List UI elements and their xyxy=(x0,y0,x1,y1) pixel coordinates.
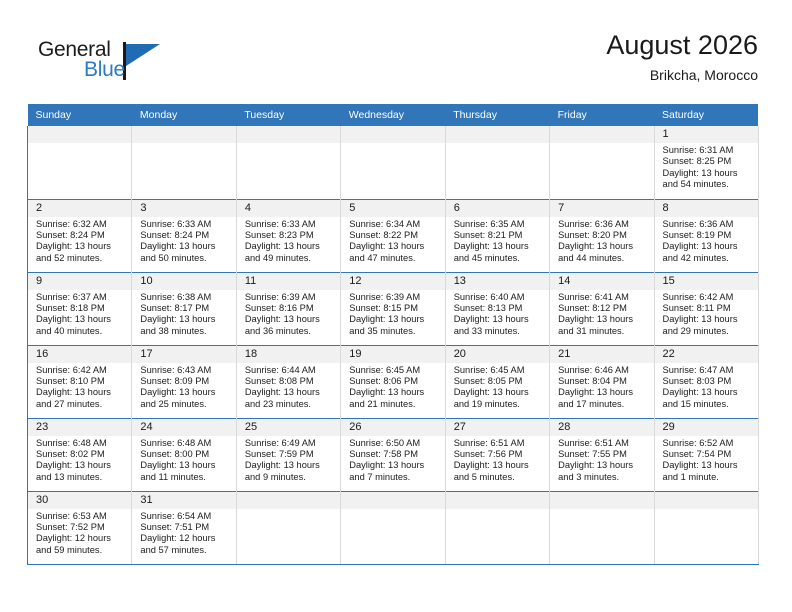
sunset-text: Sunset: 7:58 PM xyxy=(349,449,438,460)
day-number: 21 xyxy=(550,346,653,363)
day-details: Sunrise: 6:48 AMSunset: 8:00 PMDaylight:… xyxy=(132,436,235,484)
day-number: 9 xyxy=(28,273,131,290)
sunset-text: Sunset: 8:04 PM xyxy=(558,376,647,387)
day-number: 24 xyxy=(132,419,235,436)
daylight-text-line1: Daylight: 13 hours xyxy=(140,387,229,398)
calendar-day-cell[interactable]: 31Sunrise: 6:54 AMSunset: 7:51 PMDayligh… xyxy=(132,491,236,564)
day-number xyxy=(550,126,653,143)
day-details: Sunrise: 6:33 AMSunset: 8:23 PMDaylight:… xyxy=(237,217,340,265)
calendar-day-cell[interactable]: 13Sunrise: 6:40 AMSunset: 8:13 PMDayligh… xyxy=(445,272,549,345)
sunrise-text: Sunrise: 6:40 AM xyxy=(454,292,543,303)
day-details: Sunrise: 6:51 AMSunset: 7:56 PMDaylight:… xyxy=(446,436,549,484)
sunrise-text: Sunrise: 6:44 AM xyxy=(245,365,334,376)
sunrise-text: Sunrise: 6:41 AM xyxy=(558,292,647,303)
daylight-text-line1: Daylight: 13 hours xyxy=(245,460,334,471)
weekday-header-thursday: Thursday xyxy=(445,104,549,126)
daylight-text-line2: and 38 minutes. xyxy=(140,326,229,337)
calendar-cell-empty xyxy=(445,491,549,564)
daylight-text-line2: and 29 minutes. xyxy=(663,326,752,337)
day-details: Sunrise: 6:45 AMSunset: 8:06 PMDaylight:… xyxy=(341,363,444,411)
day-details xyxy=(237,143,340,195)
daylight-text-line1: Daylight: 13 hours xyxy=(140,460,229,471)
sunset-text: Sunset: 8:05 PM xyxy=(454,376,543,387)
daylight-text-line2: and 52 minutes. xyxy=(36,253,125,264)
day-number: 3 xyxy=(132,200,235,217)
calendar-cell-empty xyxy=(550,126,654,199)
day-details: Sunrise: 6:46 AMSunset: 8:04 PMDaylight:… xyxy=(550,363,653,411)
sunset-text: Sunset: 8:15 PM xyxy=(349,303,438,314)
daylight-text-line2: and 25 minutes. xyxy=(140,399,229,410)
calendar-day-cell[interactable]: 26Sunrise: 6:50 AMSunset: 7:58 PMDayligh… xyxy=(341,418,445,491)
daylight-text-line2: and 35 minutes. xyxy=(349,326,438,337)
day-number: 1 xyxy=(655,126,758,143)
sunset-text: Sunset: 8:00 PM xyxy=(140,449,229,460)
calendar-day-cell[interactable]: 9Sunrise: 6:37 AMSunset: 8:18 PMDaylight… xyxy=(28,272,132,345)
day-number: 31 xyxy=(132,492,235,509)
daylight-text-line1: Daylight: 13 hours xyxy=(36,460,125,471)
daylight-text-line2: and 47 minutes. xyxy=(349,253,438,264)
weekday-header-monday: Monday xyxy=(132,104,236,126)
sunset-text: Sunset: 7:56 PM xyxy=(454,449,543,460)
day-number: 16 xyxy=(28,346,131,363)
sunrise-text: Sunrise: 6:39 AM xyxy=(245,292,334,303)
sunset-text: Sunset: 8:02 PM xyxy=(36,449,125,460)
day-number: 8 xyxy=(655,200,758,217)
day-number: 15 xyxy=(655,273,758,290)
sunrise-text: Sunrise: 6:51 AM xyxy=(558,438,647,449)
day-details xyxy=(446,509,549,561)
sunrise-text: Sunrise: 6:42 AM xyxy=(36,365,125,376)
day-details: Sunrise: 6:53 AMSunset: 7:52 PMDaylight:… xyxy=(28,509,131,557)
day-details: Sunrise: 6:32 AMSunset: 8:24 PMDaylight:… xyxy=(28,217,131,265)
day-number: 25 xyxy=(237,419,340,436)
day-details: Sunrise: 6:47 AMSunset: 8:03 PMDaylight:… xyxy=(655,363,758,411)
sunrise-text: Sunrise: 6:45 AM xyxy=(454,365,543,376)
day-number xyxy=(28,126,131,143)
calendar-day-cell[interactable]: 17Sunrise: 6:43 AMSunset: 8:09 PMDayligh… xyxy=(132,345,236,418)
calendar-week-row: 2Sunrise: 6:32 AMSunset: 8:24 PMDaylight… xyxy=(28,199,759,272)
page-subtitle: Brikcha, Morocco xyxy=(606,65,758,85)
calendar-day-cell[interactable]: 1Sunrise: 6:31 AMSunset: 8:25 PMDaylight… xyxy=(654,126,758,199)
weekday-header-friday: Friday xyxy=(550,104,654,126)
daylight-text-line2: and 3 minutes. xyxy=(558,472,647,483)
calendar-day-cell[interactable]: 25Sunrise: 6:49 AMSunset: 7:59 PMDayligh… xyxy=(236,418,340,491)
sunrise-text: Sunrise: 6:33 AM xyxy=(140,219,229,230)
calendar-day-cell[interactable]: 12Sunrise: 6:39 AMSunset: 8:15 PMDayligh… xyxy=(341,272,445,345)
calendar-day-cell[interactable]: 15Sunrise: 6:42 AMSunset: 8:11 PMDayligh… xyxy=(654,272,758,345)
day-number: 19 xyxy=(341,346,444,363)
calendar-day-cell[interactable]: 16Sunrise: 6:42 AMSunset: 8:10 PMDayligh… xyxy=(28,345,132,418)
calendar-cell-empty xyxy=(132,126,236,199)
day-number: 20 xyxy=(446,346,549,363)
daylight-text-line1: Daylight: 13 hours xyxy=(140,241,229,252)
day-details: Sunrise: 6:48 AMSunset: 8:02 PMDaylight:… xyxy=(28,436,131,484)
daylight-text-line1: Daylight: 13 hours xyxy=(454,460,543,471)
daylight-text-line1: Daylight: 13 hours xyxy=(36,314,125,325)
daylight-text-line2: and 57 minutes. xyxy=(140,545,229,556)
sunrise-text: Sunrise: 6:31 AM xyxy=(663,145,752,156)
day-number: 4 xyxy=(237,200,340,217)
sunset-text: Sunset: 8:08 PM xyxy=(245,376,334,387)
sunrise-text: Sunrise: 6:46 AM xyxy=(558,365,647,376)
sunrise-text: Sunrise: 6:33 AM xyxy=(245,219,334,230)
daylight-text-line2: and 27 minutes. xyxy=(36,399,125,410)
sunrise-text: Sunrise: 6:54 AM xyxy=(140,511,229,522)
daylight-text-line1: Daylight: 13 hours xyxy=(663,460,752,471)
daylight-text-line2: and 9 minutes. xyxy=(245,472,334,483)
day-number: 7 xyxy=(550,200,653,217)
day-details: Sunrise: 6:42 AMSunset: 8:10 PMDaylight:… xyxy=(28,363,131,411)
daylight-text-line2: and 59 minutes. xyxy=(36,545,125,556)
daylight-text-line2: and 42 minutes. xyxy=(663,253,752,264)
sunrise-text: Sunrise: 6:45 AM xyxy=(349,365,438,376)
general-blue-logo[interactable]: General Blue xyxy=(38,38,188,86)
day-details: Sunrise: 6:36 AMSunset: 8:19 PMDaylight:… xyxy=(655,217,758,265)
calendar-day-cell[interactable]: 6Sunrise: 6:35 AMSunset: 8:21 PMDaylight… xyxy=(445,199,549,272)
daylight-text-line2: and 33 minutes. xyxy=(454,326,543,337)
weekday-header-wednesday: Wednesday xyxy=(341,104,445,126)
sunrise-text: Sunrise: 6:38 AM xyxy=(140,292,229,303)
sunrise-text: Sunrise: 6:36 AM xyxy=(558,219,647,230)
daylight-text-line1: Daylight: 13 hours xyxy=(558,387,647,398)
sunrise-text: Sunrise: 6:53 AM xyxy=(36,511,125,522)
page-header: General Blue August 2026 Brikcha, Morocc… xyxy=(0,0,792,104)
weekday-header-row: Sunday Monday Tuesday Wednesday Thursday… xyxy=(28,104,759,126)
daylight-text-line1: Daylight: 13 hours xyxy=(663,168,752,179)
sunrise-text: Sunrise: 6:36 AM xyxy=(663,219,752,230)
sunset-text: Sunset: 8:21 PM xyxy=(454,230,543,241)
calendar-week-row: 23Sunrise: 6:48 AMSunset: 8:02 PMDayligh… xyxy=(28,418,759,491)
day-details xyxy=(550,143,653,195)
calendar-week-row: 1Sunrise: 6:31 AMSunset: 8:25 PMDaylight… xyxy=(28,126,759,199)
sunset-text: Sunset: 8:20 PM xyxy=(558,230,647,241)
day-number: 28 xyxy=(550,419,653,436)
day-number xyxy=(237,492,340,509)
day-details xyxy=(341,143,444,195)
calendar-cell-empty xyxy=(28,126,132,199)
calendar-day-cell[interactable]: 3Sunrise: 6:33 AMSunset: 8:24 PMDaylight… xyxy=(132,199,236,272)
daylight-text-line1: Daylight: 13 hours xyxy=(36,387,125,398)
sunset-text: Sunset: 8:16 PM xyxy=(245,303,334,314)
day-number: 2 xyxy=(28,200,131,217)
daylight-text-line2: and 15 minutes. xyxy=(663,399,752,410)
day-number xyxy=(341,492,444,509)
day-number xyxy=(237,126,340,143)
sunset-text: Sunset: 7:52 PM xyxy=(36,522,125,533)
day-number: 11 xyxy=(237,273,340,290)
title-block: August 2026 Brikcha, Morocco xyxy=(606,28,758,85)
day-number: 23 xyxy=(28,419,131,436)
daylight-text-line1: Daylight: 13 hours xyxy=(454,314,543,325)
day-details: Sunrise: 6:35 AMSunset: 8:21 PMDaylight:… xyxy=(446,217,549,265)
calendar-day-cell[interactable]: 2Sunrise: 6:32 AMSunset: 8:24 PMDaylight… xyxy=(28,199,132,272)
daylight-text-line1: Daylight: 13 hours xyxy=(36,241,125,252)
daylight-text-line1: Daylight: 13 hours xyxy=(349,460,438,471)
calendar-day-cell[interactable]: 24Sunrise: 6:48 AMSunset: 8:00 PMDayligh… xyxy=(132,418,236,491)
weekday-header-sunday: Sunday xyxy=(28,104,132,126)
day-number: 13 xyxy=(446,273,549,290)
calendar-cell-empty xyxy=(236,491,340,564)
calendar-day-cell[interactable]: 21Sunrise: 6:46 AMSunset: 8:04 PMDayligh… xyxy=(550,345,654,418)
day-number: 26 xyxy=(341,419,444,436)
day-number: 5 xyxy=(341,200,444,217)
sunset-text: Sunset: 8:06 PM xyxy=(349,376,438,387)
daylight-text-line2: and 54 minutes. xyxy=(663,179,752,190)
day-details: Sunrise: 6:39 AMSunset: 8:15 PMDaylight:… xyxy=(341,290,444,338)
daylight-text-line1: Daylight: 13 hours xyxy=(349,241,438,252)
day-number: 27 xyxy=(446,419,549,436)
daylight-text-line1: Daylight: 13 hours xyxy=(558,241,647,252)
day-number xyxy=(341,126,444,143)
daylight-text-line2: and 11 minutes. xyxy=(140,472,229,483)
daylight-text-line1: Daylight: 13 hours xyxy=(454,387,543,398)
logo-text-blue: Blue xyxy=(84,58,125,82)
day-details: Sunrise: 6:34 AMSunset: 8:22 PMDaylight:… xyxy=(341,217,444,265)
daylight-text-line2: and 45 minutes. xyxy=(454,253,543,264)
sunset-text: Sunset: 7:54 PM xyxy=(663,449,752,460)
sunset-text: Sunset: 8:25 PM xyxy=(663,156,752,167)
sunset-text: Sunset: 8:24 PM xyxy=(36,230,125,241)
day-details xyxy=(132,143,235,195)
day-details: Sunrise: 6:36 AMSunset: 8:20 PMDaylight:… xyxy=(550,217,653,265)
weekday-header-tuesday: Tuesday xyxy=(236,104,340,126)
calendar-cell-empty xyxy=(550,491,654,564)
sunrise-text: Sunrise: 6:39 AM xyxy=(349,292,438,303)
calendar-day-cell[interactable]: 23Sunrise: 6:48 AMSunset: 8:02 PMDayligh… xyxy=(28,418,132,491)
sunset-text: Sunset: 8:18 PM xyxy=(36,303,125,314)
sunset-text: Sunset: 8:09 PM xyxy=(140,376,229,387)
calendar-day-cell[interactable]: 18Sunrise: 6:44 AMSunset: 8:08 PMDayligh… xyxy=(236,345,340,418)
page-title: August 2026 xyxy=(606,28,758,62)
sunset-text: Sunset: 8:23 PM xyxy=(245,230,334,241)
day-number: 14 xyxy=(550,273,653,290)
day-details: Sunrise: 6:41 AMSunset: 8:12 PMDaylight:… xyxy=(550,290,653,338)
day-number: 30 xyxy=(28,492,131,509)
calendar-day-cell[interactable]: 8Sunrise: 6:36 AMSunset: 8:19 PMDaylight… xyxy=(654,199,758,272)
sunrise-text: Sunrise: 6:43 AM xyxy=(140,365,229,376)
sunset-text: Sunset: 8:17 PM xyxy=(140,303,229,314)
day-number: 10 xyxy=(132,273,235,290)
sunset-text: Sunset: 8:12 PM xyxy=(558,303,647,314)
sunrise-text: Sunrise: 6:34 AM xyxy=(349,219,438,230)
sunset-text: Sunset: 7:55 PM xyxy=(558,449,647,460)
sunset-text: Sunset: 8:19 PM xyxy=(663,230,752,241)
daylight-text-line2: and 17 minutes. xyxy=(558,399,647,410)
sunset-text: Sunset: 8:11 PM xyxy=(663,303,752,314)
calendar-day-cell[interactable]: 4Sunrise: 6:33 AMSunset: 8:23 PMDaylight… xyxy=(236,199,340,272)
sunrise-text: Sunrise: 6:35 AM xyxy=(454,219,543,230)
daylight-text-line1: Daylight: 13 hours xyxy=(349,387,438,398)
day-details xyxy=(341,509,444,561)
day-number xyxy=(446,492,549,509)
day-details: Sunrise: 6:43 AMSunset: 8:09 PMDaylight:… xyxy=(132,363,235,411)
sunset-text: Sunset: 8:24 PM xyxy=(140,230,229,241)
sunrise-text: Sunrise: 6:37 AM xyxy=(36,292,125,303)
day-number: 22 xyxy=(655,346,758,363)
day-details: Sunrise: 6:39 AMSunset: 8:16 PMDaylight:… xyxy=(237,290,340,338)
daylight-text-line1: Daylight: 13 hours xyxy=(663,241,752,252)
day-details: Sunrise: 6:44 AMSunset: 8:08 PMDaylight:… xyxy=(237,363,340,411)
day-details: Sunrise: 6:52 AMSunset: 7:54 PMDaylight:… xyxy=(655,436,758,484)
calendar-day-cell[interactable]: 7Sunrise: 6:36 AMSunset: 8:20 PMDaylight… xyxy=(550,199,654,272)
day-details: Sunrise: 6:33 AMSunset: 8:24 PMDaylight:… xyxy=(132,217,235,265)
sunrise-text: Sunrise: 6:50 AM xyxy=(349,438,438,449)
daylight-text-line1: Daylight: 12 hours xyxy=(140,533,229,544)
calendar-day-cell[interactable]: 19Sunrise: 6:45 AMSunset: 8:06 PMDayligh… xyxy=(341,345,445,418)
day-number xyxy=(550,492,653,509)
calendar-day-cell[interactable]: 11Sunrise: 6:39 AMSunset: 8:16 PMDayligh… xyxy=(236,272,340,345)
calendar-day-cell[interactable]: 30Sunrise: 6:53 AMSunset: 7:52 PMDayligh… xyxy=(28,491,132,564)
day-details: Sunrise: 6:38 AMSunset: 8:17 PMDaylight:… xyxy=(132,290,235,338)
daylight-text-line2: and 40 minutes. xyxy=(36,326,125,337)
day-number xyxy=(655,492,758,509)
daylight-text-line1: Daylight: 13 hours xyxy=(349,314,438,325)
sunset-text: Sunset: 8:03 PM xyxy=(663,376,752,387)
daylight-text-line2: and 7 minutes. xyxy=(349,472,438,483)
day-number: 17 xyxy=(132,346,235,363)
day-details xyxy=(446,143,549,195)
calendar-week-row: 9Sunrise: 6:37 AMSunset: 8:18 PMDaylight… xyxy=(28,272,759,345)
sunrise-text: Sunrise: 6:48 AM xyxy=(140,438,229,449)
calendar-day-cell[interactable]: 27Sunrise: 6:51 AMSunset: 7:56 PMDayligh… xyxy=(445,418,549,491)
day-details: Sunrise: 6:37 AMSunset: 8:18 PMDaylight:… xyxy=(28,290,131,338)
daylight-text-line1: Daylight: 13 hours xyxy=(558,314,647,325)
calendar-table: Sunday Monday Tuesday Wednesday Thursday… xyxy=(27,104,759,565)
sunrise-text: Sunrise: 6:52 AM xyxy=(663,438,752,449)
daylight-text-line2: and 5 minutes. xyxy=(454,472,543,483)
day-details: Sunrise: 6:50 AMSunset: 7:58 PMDaylight:… xyxy=(341,436,444,484)
day-details: Sunrise: 6:49 AMSunset: 7:59 PMDaylight:… xyxy=(237,436,340,484)
calendar-day-cell[interactable]: 22Sunrise: 6:47 AMSunset: 8:03 PMDayligh… xyxy=(654,345,758,418)
day-details xyxy=(655,509,758,561)
day-details xyxy=(28,143,131,195)
calendar-cell-empty xyxy=(236,126,340,199)
daylight-text-line1: Daylight: 13 hours xyxy=(663,314,752,325)
daylight-text-line2: and 1 minute. xyxy=(663,472,752,483)
calendar-day-cell[interactable]: 28Sunrise: 6:51 AMSunset: 7:55 PMDayligh… xyxy=(550,418,654,491)
daylight-text-line2: and 23 minutes. xyxy=(245,399,334,410)
day-details: Sunrise: 6:31 AMSunset: 8:25 PMDaylight:… xyxy=(655,143,758,191)
day-details: Sunrise: 6:51 AMSunset: 7:55 PMDaylight:… xyxy=(550,436,653,484)
day-details: Sunrise: 6:40 AMSunset: 8:13 PMDaylight:… xyxy=(446,290,549,338)
sunrise-text: Sunrise: 6:48 AM xyxy=(36,438,125,449)
sunrise-text: Sunrise: 6:32 AM xyxy=(36,219,125,230)
calendar-week-row: 16Sunrise: 6:42 AMSunset: 8:10 PMDayligh… xyxy=(28,345,759,418)
sunrise-text: Sunrise: 6:51 AM xyxy=(454,438,543,449)
day-number xyxy=(446,126,549,143)
daylight-text-line2: and 21 minutes. xyxy=(349,399,438,410)
day-number xyxy=(132,126,235,143)
sunset-text: Sunset: 7:51 PM xyxy=(140,522,229,533)
day-details xyxy=(550,509,653,561)
daylight-text-line1: Daylight: 13 hours xyxy=(245,241,334,252)
daylight-text-line2: and 49 minutes. xyxy=(245,253,334,264)
day-number: 6 xyxy=(446,200,549,217)
calendar-cell-empty xyxy=(445,126,549,199)
day-details: Sunrise: 6:42 AMSunset: 8:11 PMDaylight:… xyxy=(655,290,758,338)
calendar-body: 1Sunrise: 6:31 AMSunset: 8:25 PMDaylight… xyxy=(28,126,759,564)
daylight-text-line1: Daylight: 13 hours xyxy=(663,387,752,398)
calendar-day-cell[interactable]: 29Sunrise: 6:52 AMSunset: 7:54 PMDayligh… xyxy=(654,418,758,491)
daylight-text-line1: Daylight: 13 hours xyxy=(454,241,543,252)
flag-icon xyxy=(126,44,160,66)
day-number: 18 xyxy=(237,346,340,363)
calendar-day-cell[interactable]: 14Sunrise: 6:41 AMSunset: 8:12 PMDayligh… xyxy=(550,272,654,345)
calendar-page: General Blue August 2026 Brikcha, Morocc… xyxy=(0,0,792,612)
day-details: Sunrise: 6:54 AMSunset: 7:51 PMDaylight:… xyxy=(132,509,235,557)
daylight-text-line2: and 36 minutes. xyxy=(245,326,334,337)
daylight-text-line1: Daylight: 13 hours xyxy=(140,314,229,325)
sunrise-text: Sunrise: 6:42 AM xyxy=(663,292,752,303)
calendar-cell-empty xyxy=(654,491,758,564)
sunset-text: Sunset: 8:10 PM xyxy=(36,376,125,387)
sunrise-text: Sunrise: 6:47 AM xyxy=(663,365,752,376)
calendar-week-row: 30Sunrise: 6:53 AMSunset: 7:52 PMDayligh… xyxy=(28,491,759,564)
sunrise-text: Sunrise: 6:49 AM xyxy=(245,438,334,449)
calendar-day-cell[interactable]: 5Sunrise: 6:34 AMSunset: 8:22 PMDaylight… xyxy=(341,199,445,272)
daylight-text-line2: and 44 minutes. xyxy=(558,253,647,264)
calendar-day-cell[interactable]: 10Sunrise: 6:38 AMSunset: 8:17 PMDayligh… xyxy=(132,272,236,345)
day-details xyxy=(237,509,340,561)
daylight-text-line2: and 19 minutes. xyxy=(454,399,543,410)
weekday-header-saturday: Saturday xyxy=(654,104,758,126)
daylight-text-line1: Daylight: 13 hours xyxy=(558,460,647,471)
sunset-text: Sunset: 8:22 PM xyxy=(349,230,438,241)
calendar-cell-empty xyxy=(341,126,445,199)
daylight-text-line1: Daylight: 13 hours xyxy=(245,387,334,398)
sunset-text: Sunset: 8:13 PM xyxy=(454,303,543,314)
daylight-text-line1: Daylight: 12 hours xyxy=(36,533,125,544)
daylight-text-line1: Daylight: 13 hours xyxy=(245,314,334,325)
sunset-text: Sunset: 7:59 PM xyxy=(245,449,334,460)
daylight-text-line2: and 50 minutes. xyxy=(140,253,229,264)
day-details: Sunrise: 6:45 AMSunset: 8:05 PMDaylight:… xyxy=(446,363,549,411)
daylight-text-line2: and 31 minutes. xyxy=(558,326,647,337)
daylight-text-line2: and 13 minutes. xyxy=(36,472,125,483)
calendar-day-cell[interactable]: 20Sunrise: 6:45 AMSunset: 8:05 PMDayligh… xyxy=(445,345,549,418)
day-number: 29 xyxy=(655,419,758,436)
day-number: 12 xyxy=(341,273,444,290)
calendar-cell-empty xyxy=(341,491,445,564)
